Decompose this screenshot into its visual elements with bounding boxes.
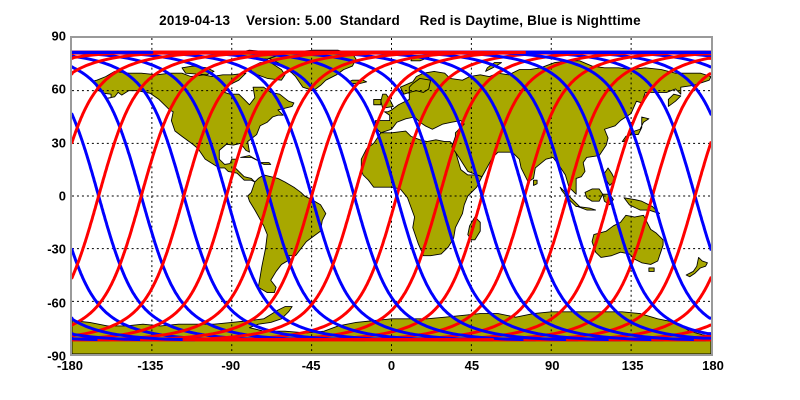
y-axis-labels: 9060300-30-60-90: [26, 36, 66, 356]
landmass-india-lanka: [534, 180, 538, 185]
landmass-cuba: [241, 156, 259, 161]
x-tick-label: 180: [683, 358, 743, 373]
landmass-new-zealand: [686, 257, 707, 276]
landmass-borneo: [585, 189, 603, 201]
y-tick-label: 30: [32, 135, 66, 150]
landmass-kamchatka: [668, 94, 680, 106]
y-tick-label: 90: [32, 29, 66, 44]
x-tick-label: -45: [281, 358, 341, 373]
x-tick-label: -180: [40, 358, 100, 373]
x-tick-label: 90: [522, 358, 582, 373]
x-axis-labels: -180-135-90-4504590135180: [70, 358, 713, 378]
x-tick-label: -90: [201, 358, 261, 373]
y-tick-label: -60: [32, 295, 66, 310]
map-canvas: [72, 38, 711, 354]
landmass-tasmania: [649, 268, 654, 271]
ground-track-figure: 2019-04-13 Version: 5.00 Standard Red is…: [0, 0, 800, 400]
x-tick-label: 45: [442, 358, 502, 373]
landmass-java: [578, 207, 596, 210]
y-tick-label: -30: [32, 242, 66, 257]
x-tick-label: 0: [362, 358, 422, 373]
landmass-hispaniola: [260, 163, 271, 165]
y-tick-label: 0: [32, 189, 66, 204]
x-tick-label: 135: [603, 358, 663, 373]
chart-title: 2019-04-13 Version: 5.00 Standard Red is…: [0, 13, 800, 28]
x-tick-label: -135: [120, 358, 180, 373]
plot-area: [70, 36, 713, 356]
landmass-ireland: [374, 99, 381, 104]
y-tick-label: 60: [32, 82, 66, 97]
